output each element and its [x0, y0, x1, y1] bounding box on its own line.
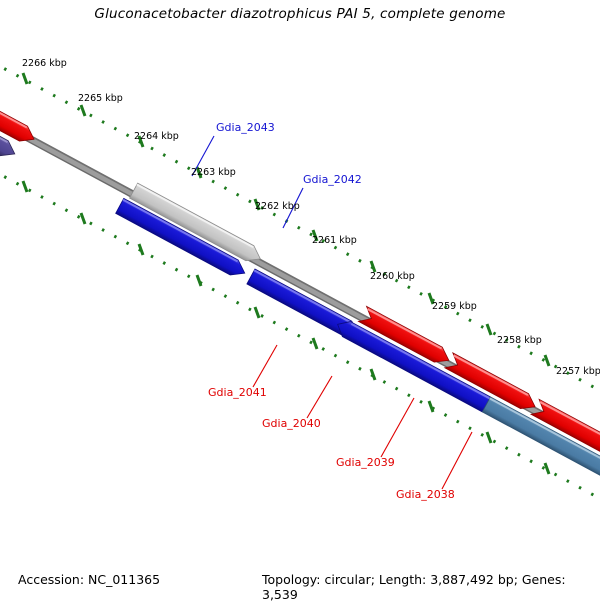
leader-gdia-2040	[307, 376, 332, 418]
tick-label: 2262 kbp	[255, 201, 300, 212]
leader-gdia-2041	[253, 345, 277, 387]
tick-label: 2261 kbp	[312, 235, 357, 246]
gene-label-gdia-2042[interactable]: Gdia_2042	[303, 173, 362, 186]
tick-label: 2263 kbp	[191, 167, 236, 178]
gene-label-gdia-2039[interactable]: Gdia_2039	[336, 456, 395, 469]
leader-gdia-2038	[442, 432, 472, 489]
leader-gdia-2039	[381, 398, 414, 457]
tick-label: 2266 kbp	[22, 58, 67, 69]
tick-label: 2257 kbp	[556, 366, 600, 377]
genome-axis	[0, 114, 600, 456]
gene-label-gdia-2043[interactable]: Gdia_2043	[216, 121, 275, 134]
tick-label: 2264 kbp	[134, 131, 179, 142]
genome-diagram: 2266 kbp 2265 kbp 2264 kbp 2263 kbp 2262…	[0, 0, 600, 600]
genome-stats-text: Topology: circular; Length: 3,887,492 bp…	[262, 572, 600, 602]
tick-label: 2265 kbp	[78, 93, 123, 104]
gene-label-gdia-2040[interactable]: Gdia_2040	[262, 417, 321, 430]
accession-text: Accession: NC_011365	[18, 572, 160, 587]
genome-map-canvas: Gluconacetobacter diazotrophicus PAI 5, …	[0, 0, 600, 600]
tick-labels: 2266 kbp 2265 kbp 2264 kbp 2263 kbp 2262…	[22, 58, 600, 377]
gene-label-gdia-2041[interactable]: Gdia_2041	[208, 386, 267, 399]
tick-label: 2258 kbp	[497, 335, 542, 346]
tick-label: 2260 kbp	[370, 271, 415, 282]
gene-label-gdia-2038[interactable]: Gdia_2038	[396, 488, 455, 501]
feature-red-left[interactable]	[0, 41, 38, 147]
tick-label: 2259 kbp	[432, 301, 477, 312]
tick-scale-line	[0, 62, 600, 397]
feature-purple-left[interactable]	[0, 60, 19, 161]
